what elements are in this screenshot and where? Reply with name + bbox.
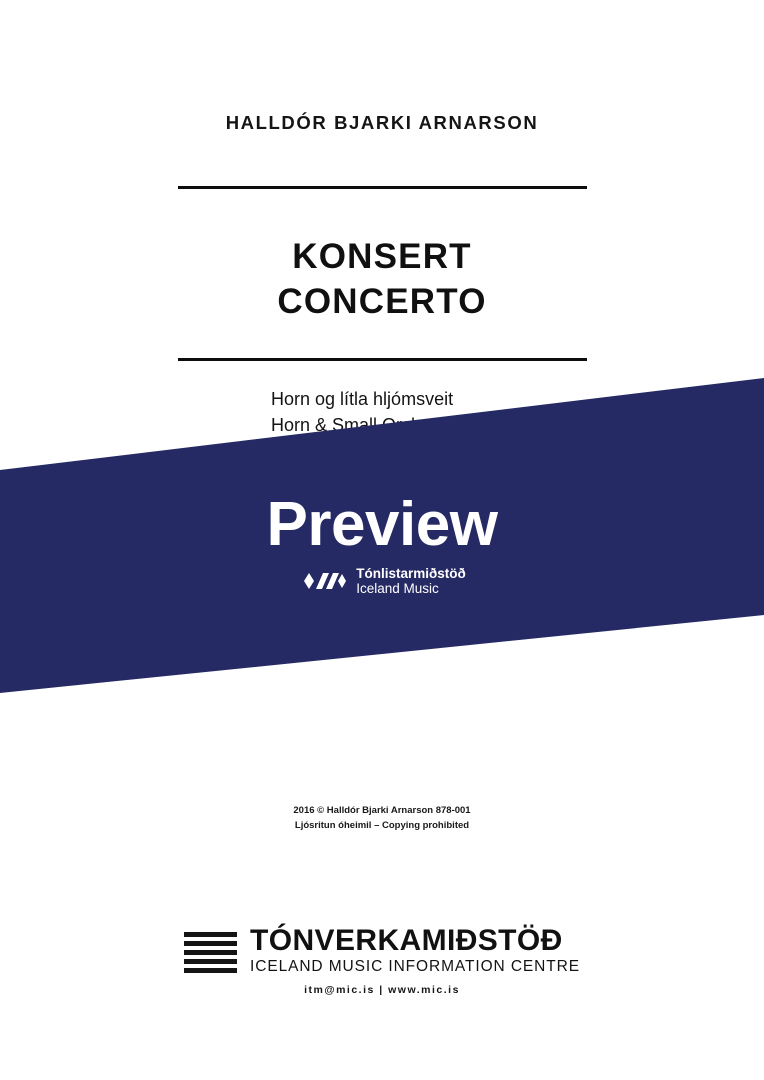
- score-cover-page: HALLDÓR BJARKI ARNARSON KONSERT CONCERTO…: [0, 0, 764, 1080]
- title-rule-top: [178, 186, 587, 189]
- preview-watermark-label: Preview: [0, 489, 764, 560]
- publisher-contact: itm@mic.is | www.mic.is: [0, 984, 764, 996]
- publisher-subtitle: ICELAND MUSIC INFORMATION CENTRE: [250, 957, 580, 977]
- mic-wordmark-line2: Iceland Music: [356, 581, 466, 596]
- instrumentation-english: Horn & Small Orchestra: [271, 412, 701, 438]
- copyright-block: 2016 © Halldór Bjarki Arnarson 878-001 L…: [0, 803, 764, 833]
- title-icelandic: KONSERT: [0, 234, 764, 279]
- copyright-line-1: 2016 © Halldór Bjarki Arnarson 878-001: [0, 803, 764, 818]
- stacked-bars-icon: [184, 925, 237, 973]
- mic-diagonal-slashes-icon: [298, 570, 346, 592]
- copyright-line-2: Ljósritun óheimil – Copying prohibited: [0, 818, 764, 833]
- instrumentation-icelandic: Horn og lítla hljómsveit: [271, 386, 701, 412]
- instrumentation: Horn og lítla hljómsveit Horn & Small Or…: [271, 386, 701, 438]
- composer-name: HALLDÓR BJARKI ARNARSON: [0, 112, 764, 134]
- publisher-name: TÓNVERKAMIÐSTÖÐ: [250, 925, 580, 957]
- title-english: CONCERTO: [0, 279, 764, 324]
- page-title: KONSERT CONCERTO: [0, 234, 764, 324]
- mic-wordmark: Tónlistarmiðstöð Iceland Music: [356, 566, 466, 596]
- title-rule-bottom: [178, 358, 587, 361]
- publisher-footer: TÓNVERKAMIÐSTÖÐ ICELAND MUSIC INFORMATIO…: [0, 925, 764, 996]
- mic-wordmark-line1: Tónlistarmiðstöð: [356, 566, 466, 581]
- mic-logo: Tónlistarmiðstöð Iceland Music: [0, 566, 764, 596]
